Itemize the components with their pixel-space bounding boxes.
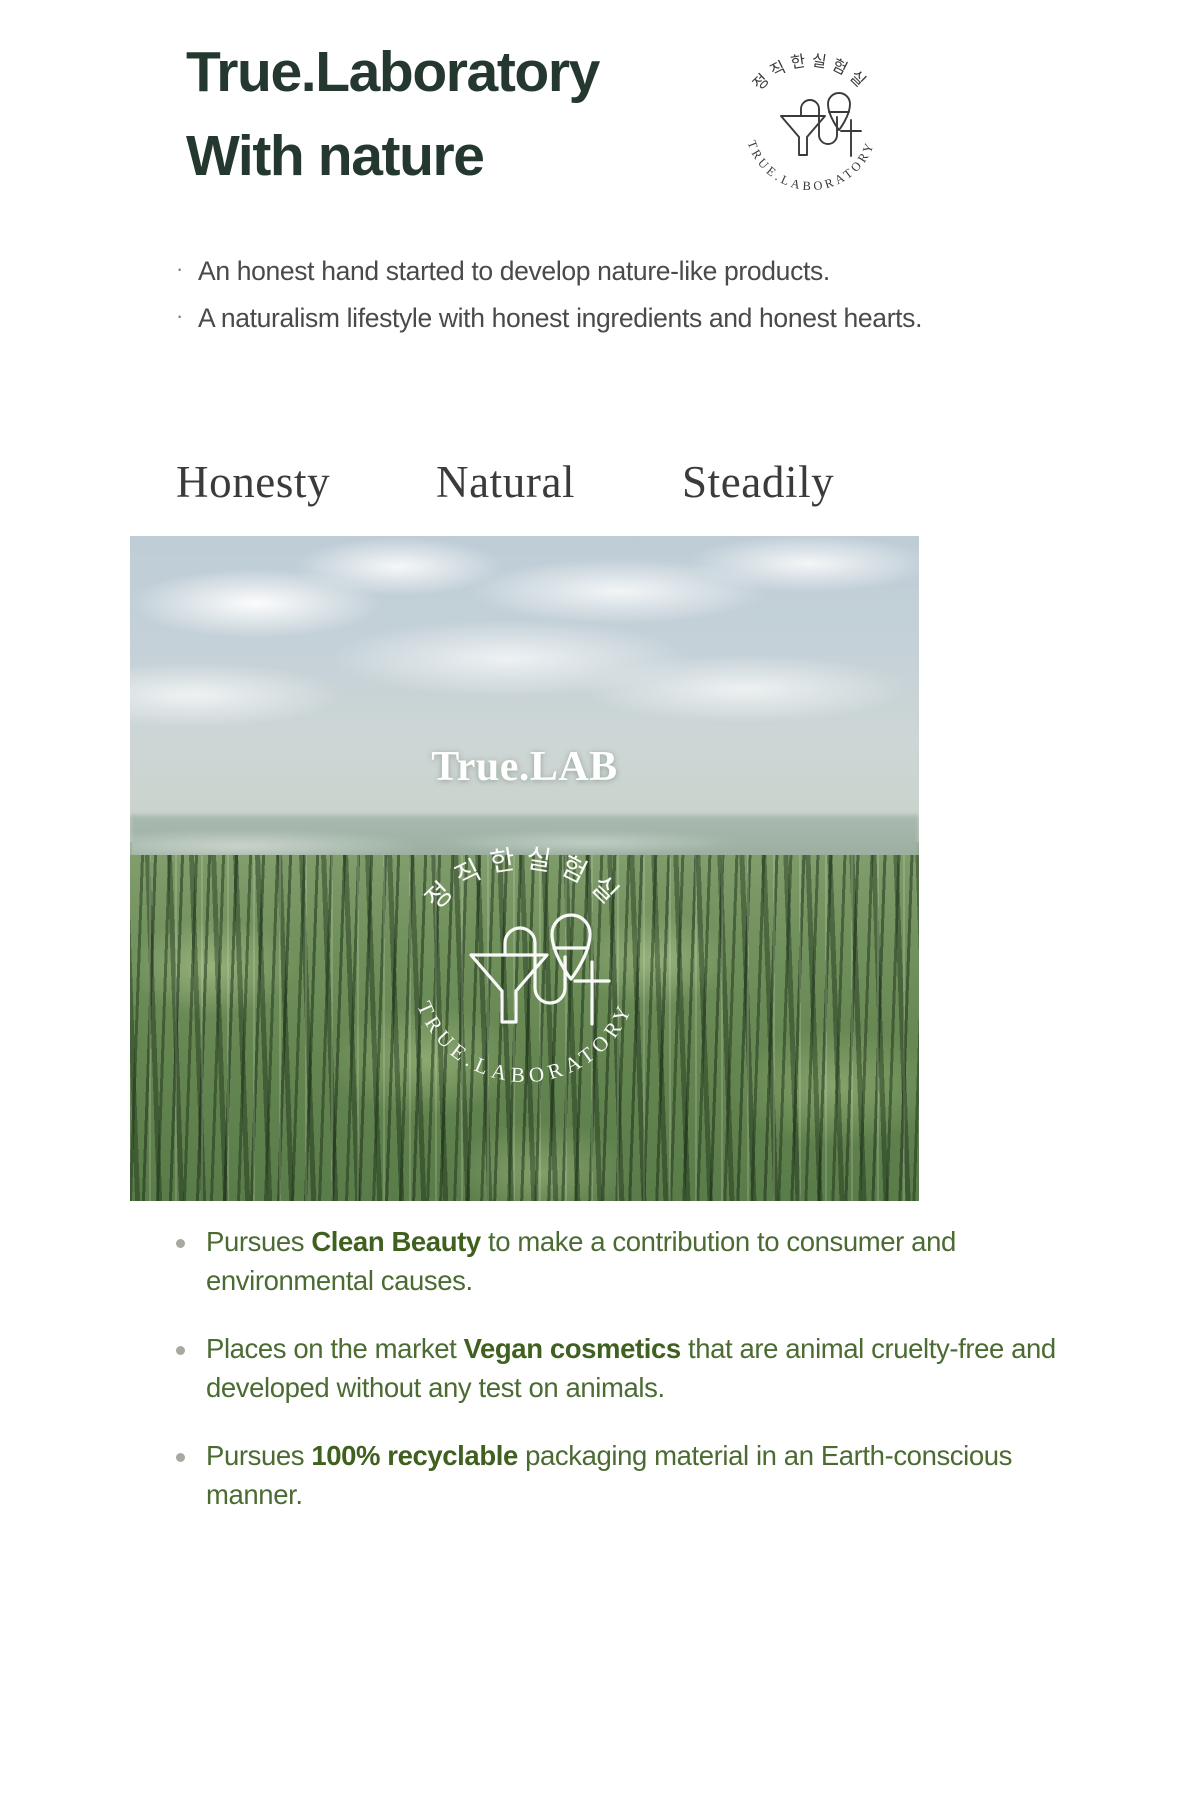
bullet-dot-icon: · [176,295,198,338]
claims-list: Pursues Clean Beauty to make a contribut… [176,1222,1096,1543]
bullet-dot-icon [176,1329,206,1355]
claim-strong: Clean Beauty [311,1226,480,1257]
poster-page: True.Laboratory With nature 정직한실험실 TRUE.… [0,0,1200,1800]
svg-text:정직한실험실: 정직한실험실 [749,50,873,93]
svg-text:TRUE.LABORATORY: TRUE.LABORATORY [412,997,638,1087]
list-item: Pursues Clean Beauty to make a contribut… [176,1222,1096,1300]
bullet-dot-icon [176,1436,206,1462]
bullet-dot-icon: · [176,248,198,291]
intro-item-text: A naturalism lifestyle with honest ingre… [198,295,1076,342]
claim-text: Pursues 100% recyclable packaging materi… [206,1436,1096,1514]
claim-lead: Pursues [206,1440,311,1471]
svg-text:정직한실험실: 정직한실험실 [419,843,630,916]
svg-text:TRUE.LABORATORY: TRUE.LABORATORY [745,138,878,193]
value-word-honesty: Honesty [176,456,436,508]
brand-logo-icon: 정직한실험실 TRUE.LABORATORY [723,36,899,212]
poster-header: True.Laboratory With nature 정직한실험실 TRUE.… [0,0,1200,230]
claim-lead: Pursues [206,1226,311,1257]
value-word-steadily: Steadily [682,456,834,508]
hero-forest-image: True.LAB 정직한실험실 TRUE.LABORATORY [130,536,919,1201]
claim-text: Pursues Clean Beauty to make a contribut… [206,1222,1096,1300]
hero-wordmark: True.LAB [130,743,919,791]
claim-text: Places on the market Vegan cosmetics tha… [206,1329,1096,1407]
brand-logo-icon: 정직한실험실 TRUE.LABORATORY [375,818,675,1118]
intro-item-text: An honest hand started to develop nature… [198,248,1076,295]
page-title: True.Laboratory With nature [186,30,599,199]
list-item: Places on the market Vegan cosmetics tha… [176,1329,1096,1407]
claim-strong: Vegan cosmetics [464,1333,681,1364]
brand-logo-stamp: 정직한실험실 TRUE.LABORATORY [723,36,899,212]
list-item: · A naturalism lifestyle with honest ing… [176,295,1076,342]
value-words: Honesty Natural Steadily [176,456,876,508]
intro-list: · An honest hand started to develop natu… [176,248,1076,342]
bullet-dot-icon [176,1222,206,1248]
value-word-natural: Natural [436,456,682,508]
claim-strong: 100% recyclable [311,1440,518,1471]
claim-lead: Places on the market [206,1333,464,1364]
list-item: · An honest hand started to develop natu… [176,248,1076,295]
hero-watermark-stamp: 정직한실험실 TRUE.LABORATORY [375,818,675,1118]
list-item: Pursues 100% recyclable packaging materi… [176,1436,1096,1514]
